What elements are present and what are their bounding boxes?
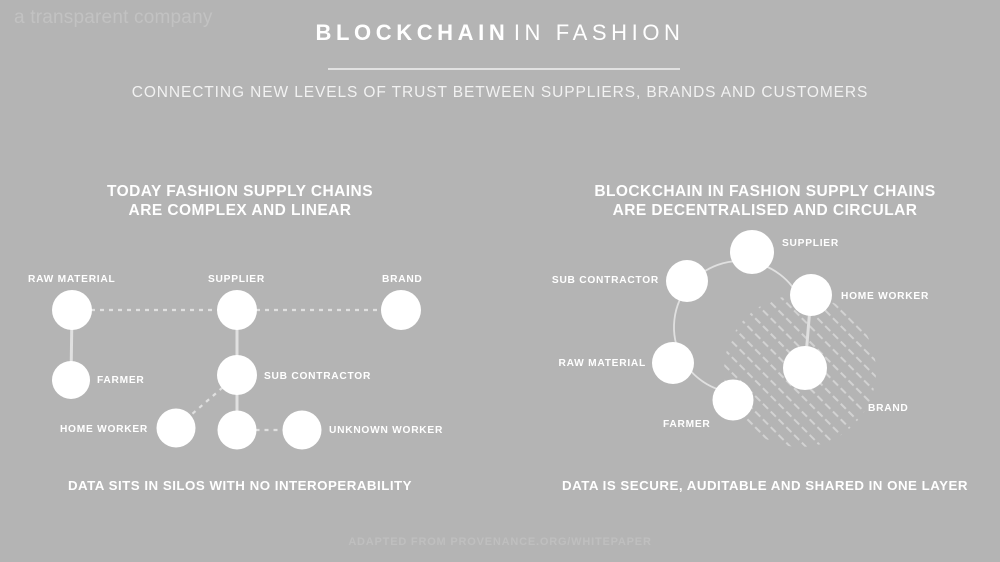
node-label-sub-contractor: SUB CONTRACTOR [552, 275, 659, 286]
link-arc [682, 358, 734, 392]
panel-heading-right-line2: ARE DECENTRALISED AND CIRCULAR [530, 201, 1000, 220]
node-raw-material [52, 290, 92, 330]
link-solid [807, 315, 810, 347]
node-brand [783, 346, 827, 390]
page-title-strong: BLOCKCHAIN [315, 20, 509, 45]
panel-heading-left-line1: TODAY FASHION SUPPLY CHAINS [40, 182, 440, 201]
node-label-brand: BRAND [868, 403, 909, 414]
node-label-brand: BRAND [382, 274, 423, 285]
node-label-home-worker: HOME WORKER [841, 291, 929, 302]
footer-credit: ADAPTED FROM PROVENANCE.ORG/WHITEPAPER [0, 536, 1000, 548]
node-label-sub-contractor: SUB CONTRACTOR [264, 371, 371, 382]
node-home-worker [157, 409, 196, 448]
node-label-raw-material: RAW MATERIAL [28, 274, 115, 285]
page-title-light: IN FASHION [514, 20, 685, 45]
node-label-supplier: SUPPLIER [208, 274, 265, 285]
panel-heading-right-line1: BLOCKCHAIN IN FASHION SUPPLY CHAINS [530, 182, 1000, 201]
node-label-farmer: FARMER [663, 419, 711, 430]
node-supplier [730, 230, 774, 274]
title-divider [328, 68, 680, 70]
node-label-raw-material: RAW MATERIAL [559, 358, 646, 369]
node-label-supplier: SUPPLIER [782, 238, 839, 249]
link-dashed [190, 387, 223, 415]
node-unknown-worker [283, 411, 322, 450]
panel-heading-right: BLOCKCHAIN IN FASHION SUPPLY CHAINS ARE … [530, 182, 1000, 220]
link-arc [750, 262, 800, 300]
node-brand [381, 290, 421, 330]
node-label-unknown-worker: UNKNOWN WORKER [329, 425, 443, 436]
panel-heading-left: TODAY FASHION SUPPLY CHAINS ARE COMPLEX … [40, 182, 440, 220]
node-raw-material [652, 342, 694, 384]
node-farmer [713, 380, 754, 421]
panel-caption-left: DATA SITS IN SILOS WITH NO INTEROPERABIL… [40, 478, 440, 493]
node-label-farmer: FARMER [97, 375, 145, 386]
link-arc [674, 284, 690, 359]
node-worker-node [218, 411, 257, 450]
panel-heading-left-line2: ARE COMPLEX AND LINEAR [40, 201, 440, 220]
shared-ledger-hatch-circle [724, 295, 876, 447]
node-supplier [217, 290, 257, 330]
infographic-canvas: a transparent company BLOCKCHAIN IN FASH… [0, 0, 1000, 562]
page-subtitle: CONNECTING NEW LEVELS OF TRUST BETWEEN S… [0, 84, 1000, 102]
panel-caption-right: DATA IS SECURE, AUDITABLE AND SHARED IN … [530, 478, 1000, 493]
link-arc [690, 261, 750, 284]
node-label-home-worker: HOME WORKER [60, 424, 148, 435]
node-farmer [52, 361, 90, 399]
node-sub-contractor [666, 260, 708, 302]
page-title: BLOCKCHAIN IN FASHION [0, 20, 1000, 46]
node-home-worker [790, 274, 832, 316]
node-sub-contractor [217, 355, 257, 395]
